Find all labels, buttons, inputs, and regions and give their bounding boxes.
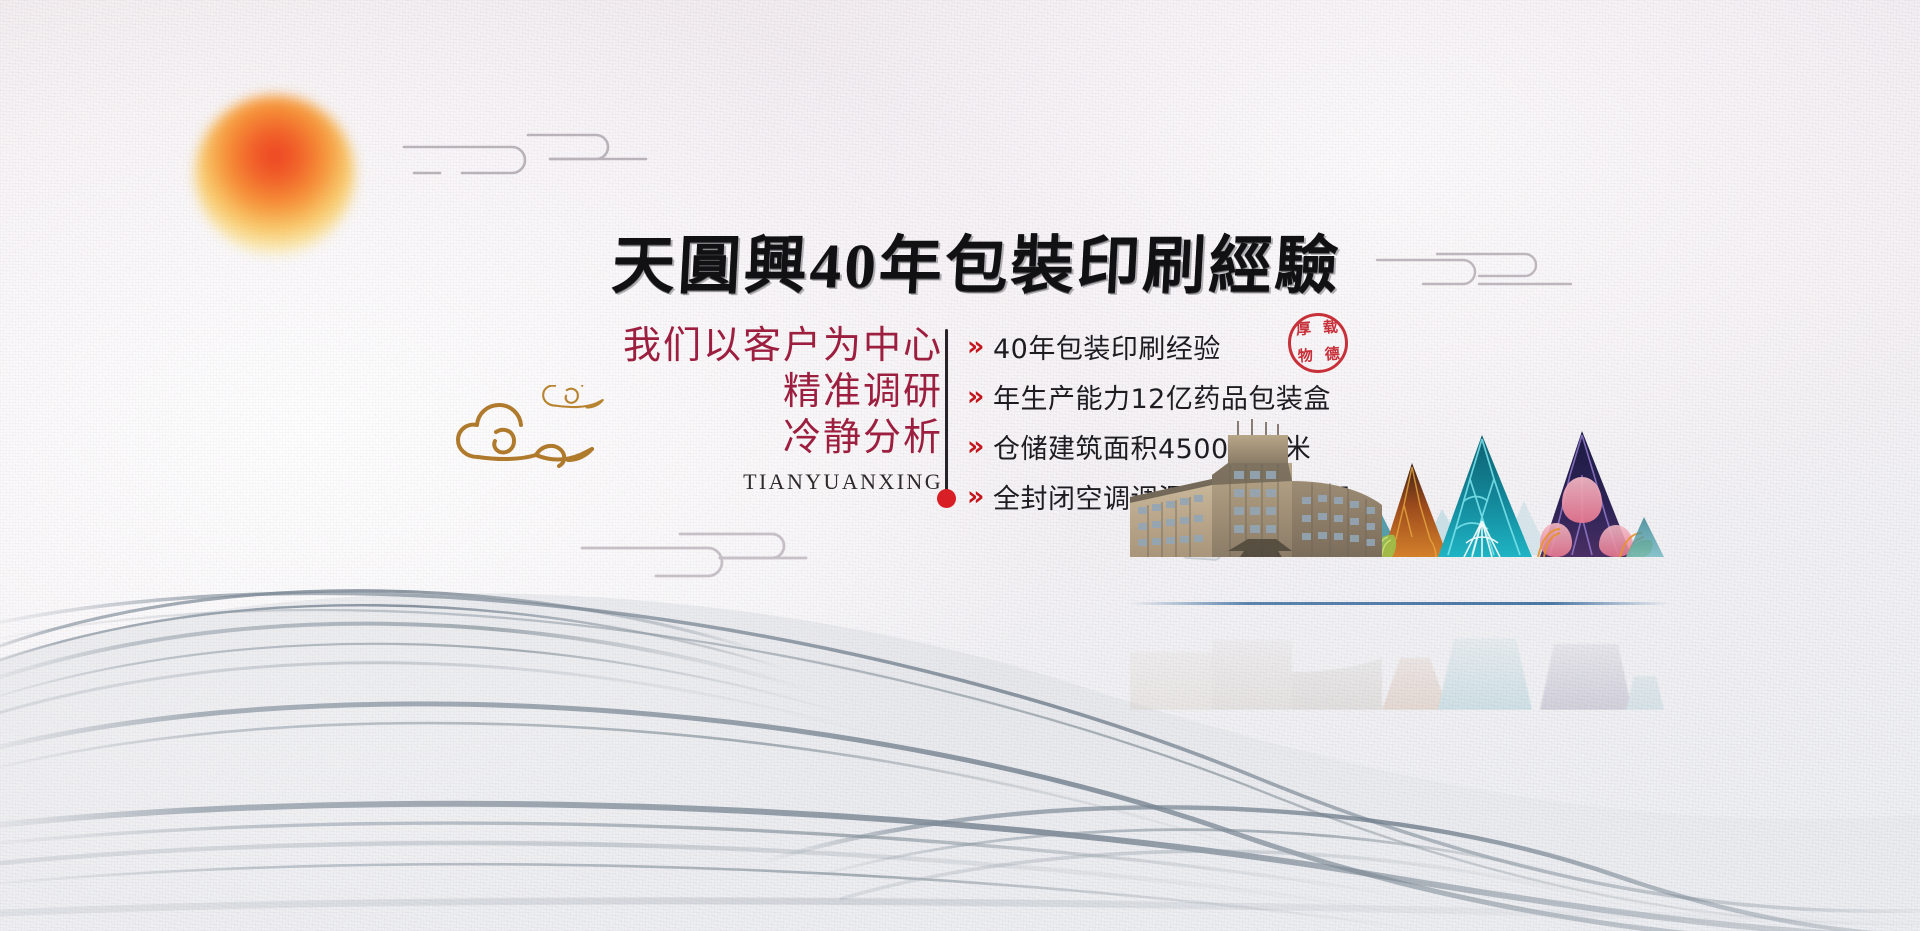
scene-reflection — [1120, 600, 1680, 710]
divider-dot-icon — [937, 489, 956, 508]
double-chevron-icon: » — [967, 383, 993, 410]
seal-char-3: 物 — [1297, 349, 1313, 365]
page-title: 天圓興40年包裝印刷經驗 — [610, 235, 1342, 298]
slogan-line-2: 精准调研 — [613, 369, 943, 415]
cloud-line-icon — [580, 522, 810, 588]
banner-stage: 天圓興40年包裝印刷經驗 我们以客户为中心 精准调研 冷静分析 TIANYUAN… — [0, 0, 1920, 931]
sun-icon — [195, 95, 355, 255]
seal-char-4: 德 — [1324, 348, 1340, 364]
factory-mountain-illustration — [1120, 405, 1680, 605]
seal-char-2: 载 — [1323, 321, 1339, 337]
slogan-block: 我们以客户为中心 精准调研 冷静分析 TIANYUANXING — [613, 323, 943, 495]
list-item-label: 40年包装印刷经验 — [993, 327, 1221, 366]
brand-latin-name: TIANYUANXING — [613, 469, 943, 495]
cloud-line-icon — [1375, 240, 1575, 296]
slogan-line-1: 我们以客户为中心 — [613, 323, 943, 369]
cloud-line-icon — [400, 125, 650, 185]
vertical-divider — [945, 329, 948, 495]
seal-char-1: 厚 — [1296, 322, 1312, 338]
double-chevron-icon: » — [967, 333, 993, 360]
auspicious-cloud-icon — [440, 385, 620, 490]
slogan-line-3: 冷静分析 — [613, 415, 943, 461]
double-chevron-icon: » — [967, 483, 993, 510]
double-chevron-icon: » — [967, 433, 993, 460]
scene-waterline — [1130, 602, 1670, 605]
